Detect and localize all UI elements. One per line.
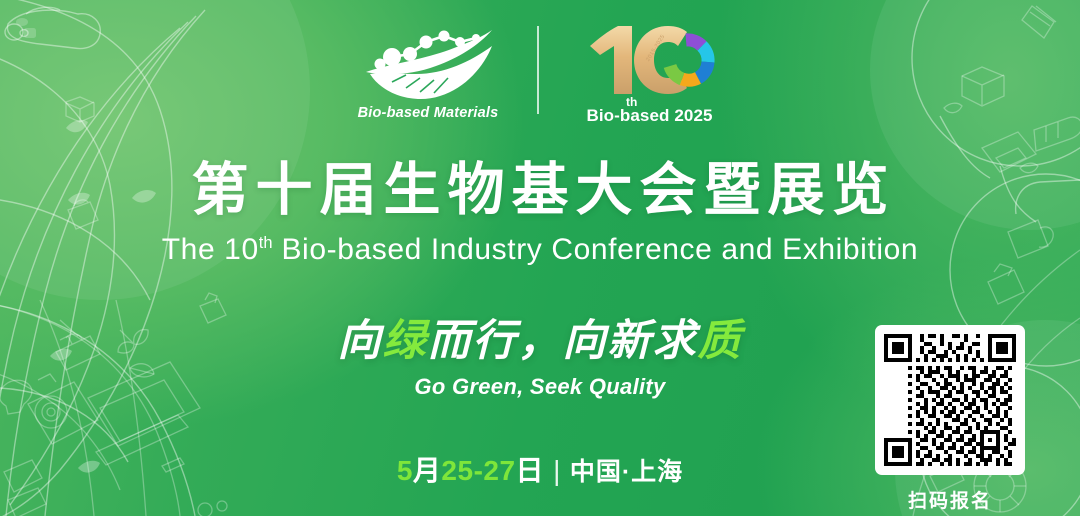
bio-based-materials-caption: Bio-based Materials <box>358 105 499 121</box>
english-title-suffix: Bio-based Industry Conference and Exhibi… <box>273 233 919 266</box>
english-title-prefix: The 10 <box>162 233 259 266</box>
bio-based-materials-logo: Bio-based Materials <box>346 22 511 121</box>
anniversary-10-ring-icon: 2015-2025 th <box>576 22 724 108</box>
date-day-unit: 日 <box>516 455 545 486</box>
chinese-title: 第十届生物基大会暨展览 <box>0 160 1080 222</box>
qr-registration-block[interactable]: 扫码报名 <box>875 325 1025 513</box>
slogan-part-3: 而行， <box>428 317 563 365</box>
slogan-part-1: 向 <box>338 317 383 365</box>
logo-lockup: Bio-based Materials 2015-2025 <box>0 22 1080 142</box>
headline-block: 第十届生物基大会暨展览 The 10th Bio-based Industry … <box>0 160 1080 268</box>
english-title: The 10th Bio-based Industry Conference a… <box>0 231 1080 269</box>
date-month: 5 <box>397 455 413 486</box>
date-separator: | <box>553 455 561 486</box>
slogan-part-4: 向 <box>563 317 608 365</box>
qr-caption: 扫码报名 <box>875 486 1025 513</box>
date-month-unit: 月 <box>413 455 442 486</box>
event-location: 中国·上海 <box>570 458 683 486</box>
english-title-ordinal: th <box>259 234 273 252</box>
bio-based-2025-caption: Bio-based 2025 <box>586 106 712 126</box>
leaf-molecule-logo-icon <box>358 22 498 104</box>
slogan-part-2: 绿 <box>383 317 428 365</box>
event-banner: Bio-based Materials 2015-2025 <box>0 0 1080 516</box>
slogan-part-6: 质 <box>698 317 743 365</box>
slogan-part-5: 新求 <box>608 317 698 365</box>
date-days: 25-27 <box>441 455 515 486</box>
logo-divider <box>537 26 539 114</box>
qr-code-icon[interactable] <box>875 325 1025 475</box>
anniversary-logo: 2015-2025 th Bio-based 2025 <box>565 22 735 126</box>
